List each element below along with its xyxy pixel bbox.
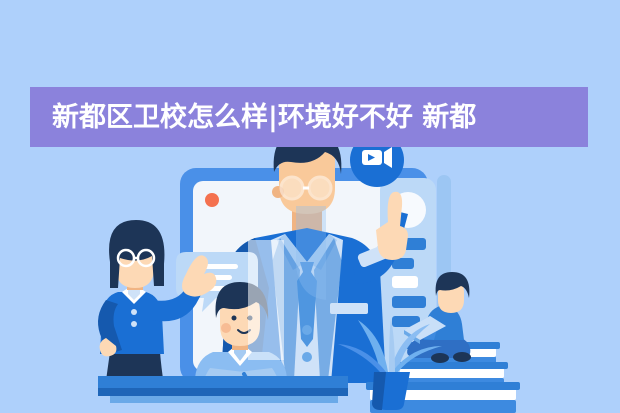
record-dot [205,193,219,207]
education-illustration [0,0,620,413]
thumbnail-canvas: 新都区卫校怎么样|环境好不好 新都 [0,0,620,413]
panel-list-item [392,276,418,288]
desk [98,376,348,403]
panel-list-item [392,296,426,308]
title-banner: 新都区卫校怎么样|环境好不好 新都 [30,87,588,147]
page-title: 新都区卫校怎么样|环境好不好 新都 [30,104,476,131]
